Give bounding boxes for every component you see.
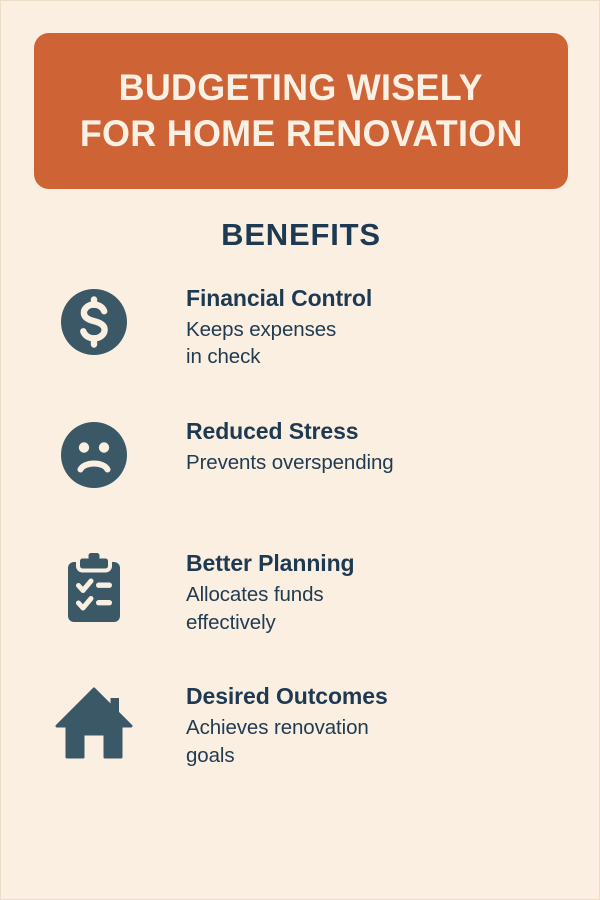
benefit-text-better-planning: Better Planning Allocates funds effectiv… (186, 549, 600, 636)
sad-face-icon (1, 417, 186, 489)
benefit-item-reduced-stress: Reduced Stress Prevents overspending (1, 417, 600, 549)
benefits-list: Financial Control Keeps expenses in chec… (1, 284, 600, 769)
benefit-description: Keeps expenses in check (186, 316, 466, 371)
benefit-title: Reduced Stress (186, 419, 600, 445)
clipboard-checklist-icon (1, 549, 186, 625)
benefit-item-financial-control: Financial Control Keeps expenses in chec… (1, 284, 600, 417)
benefit-description: Achieves renovation goals (186, 714, 466, 769)
benefit-text-desired-outcomes: Desired Outcomes Achieves renovation goa… (186, 682, 600, 769)
benefit-text-financial-control: Financial Control Keeps expenses in chec… (186, 284, 600, 371)
benefit-item-better-planning: Better Planning Allocates funds effectiv… (1, 549, 600, 682)
dollar-circle-icon (1, 284, 186, 356)
title-line-1: BUDGETING WISELY (119, 65, 483, 111)
title-banner: BUDGETING WISELY FOR HOME RENOVATION (34, 33, 568, 189)
benefit-text-reduced-stress: Reduced Stress Prevents overspending (186, 417, 600, 476)
benefit-title: Financial Control (186, 286, 600, 312)
benefit-description: Prevents overspending (186, 449, 466, 477)
section-heading-benefits: BENEFITS (1, 217, 600, 253)
infographic-poster: BUDGETING WISELY FOR HOME RENOVATION BEN… (0, 0, 600, 900)
title-line-2: FOR HOME RENOVATION (80, 111, 523, 157)
benefit-title: Desired Outcomes (186, 684, 600, 710)
benefit-description: Allocates funds effectively (186, 581, 466, 636)
house-icon (1, 682, 186, 760)
benefit-item-desired-outcomes: Desired Outcomes Achieves renovation goa… (1, 682, 600, 769)
benefit-title: Better Planning (186, 551, 600, 577)
